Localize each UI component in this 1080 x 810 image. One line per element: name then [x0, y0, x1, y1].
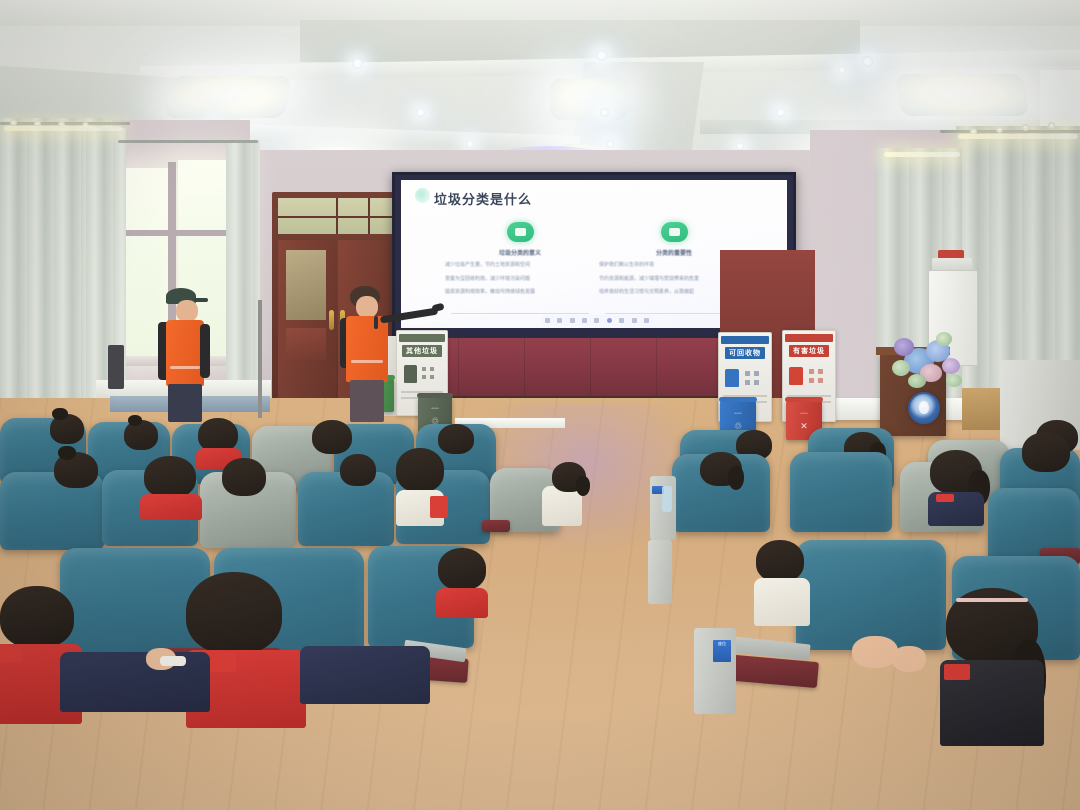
- highlighter-icon[interactable]: [557, 318, 562, 323]
- ceiling-panel-light: [550, 78, 628, 120]
- seat-side-panel: [648, 540, 672, 604]
- pen-icon[interactable]: [545, 318, 550, 323]
- next-icon[interactable]: [644, 318, 649, 323]
- slide-column-icon-left: [507, 222, 534, 242]
- sign-title-hazardous: 有害垃圾: [789, 345, 829, 357]
- hydrangea-arrangement: [890, 330, 966, 392]
- curtain-rod: [940, 130, 1080, 133]
- ceiling-panel-light: [895, 74, 1030, 116]
- assistant-volunteer: [150, 288, 220, 422]
- water-bottle[interactable]: [662, 486, 672, 512]
- sign-title-recyclable: 可回收物: [725, 347, 765, 359]
- speaker-cabinet: [108, 345, 124, 389]
- eraser-icon[interactable]: [570, 318, 575, 323]
- seat-number-plate: 座位: [713, 640, 731, 662]
- student-hand: [852, 636, 898, 668]
- slide-column-heading-left: 垃圾分类的意义: [445, 248, 595, 257]
- prev-icon[interactable]: [632, 318, 637, 323]
- ceiling-panel-light: [164, 76, 291, 118]
- shapes-icon[interactable]: [594, 318, 599, 323]
- cove-light: [958, 134, 1078, 139]
- menu-icon[interactable]: [607, 318, 612, 323]
- volunteer-vest: [346, 316, 388, 382]
- curtain-rod: [118, 140, 258, 143]
- slide-column-line: 减少垃圾产生量，节约土地资源和空间: [445, 261, 595, 271]
- mop-handle: [258, 300, 262, 418]
- slide-title-decoration-icon: [415, 188, 430, 203]
- auditorium-photo: 垃圾分类是什么 垃圾分类的意义 减少垃圾产生量，节约土地资源和空间 变废为宝回收…: [0, 0, 1080, 810]
- seat-plate-label: 座位: [713, 640, 731, 647]
- school-emblem: [908, 392, 940, 424]
- slide-title: 垃圾分类是什么: [434, 189, 532, 208]
- microphone[interactable]: [374, 316, 378, 329]
- slide-column-line: 变废为宝回收利用，减少环境污染问题: [445, 275, 595, 285]
- volunteer-vest: [166, 320, 204, 386]
- student-hand: [892, 646, 926, 672]
- window-mullion: [120, 230, 242, 236]
- slide-column-line: 提高资源利用效率，推动可持续绿色发展: [445, 288, 595, 298]
- pointing-arm: [380, 308, 438, 324]
- slide-icon[interactable]: [619, 318, 624, 323]
- speaker-presenter: [332, 286, 442, 422]
- cove-light: [4, 126, 122, 131]
- pointer-icon[interactable]: [582, 318, 587, 323]
- cove-light: [884, 152, 960, 157]
- slide-column-icon-right: [661, 222, 688, 242]
- armrest: [482, 520, 510, 532]
- curtain-rod: [0, 122, 130, 125]
- presentation-toolbar[interactable]: [541, 315, 653, 326]
- curtain-center-left[interactable]: [226, 140, 260, 412]
